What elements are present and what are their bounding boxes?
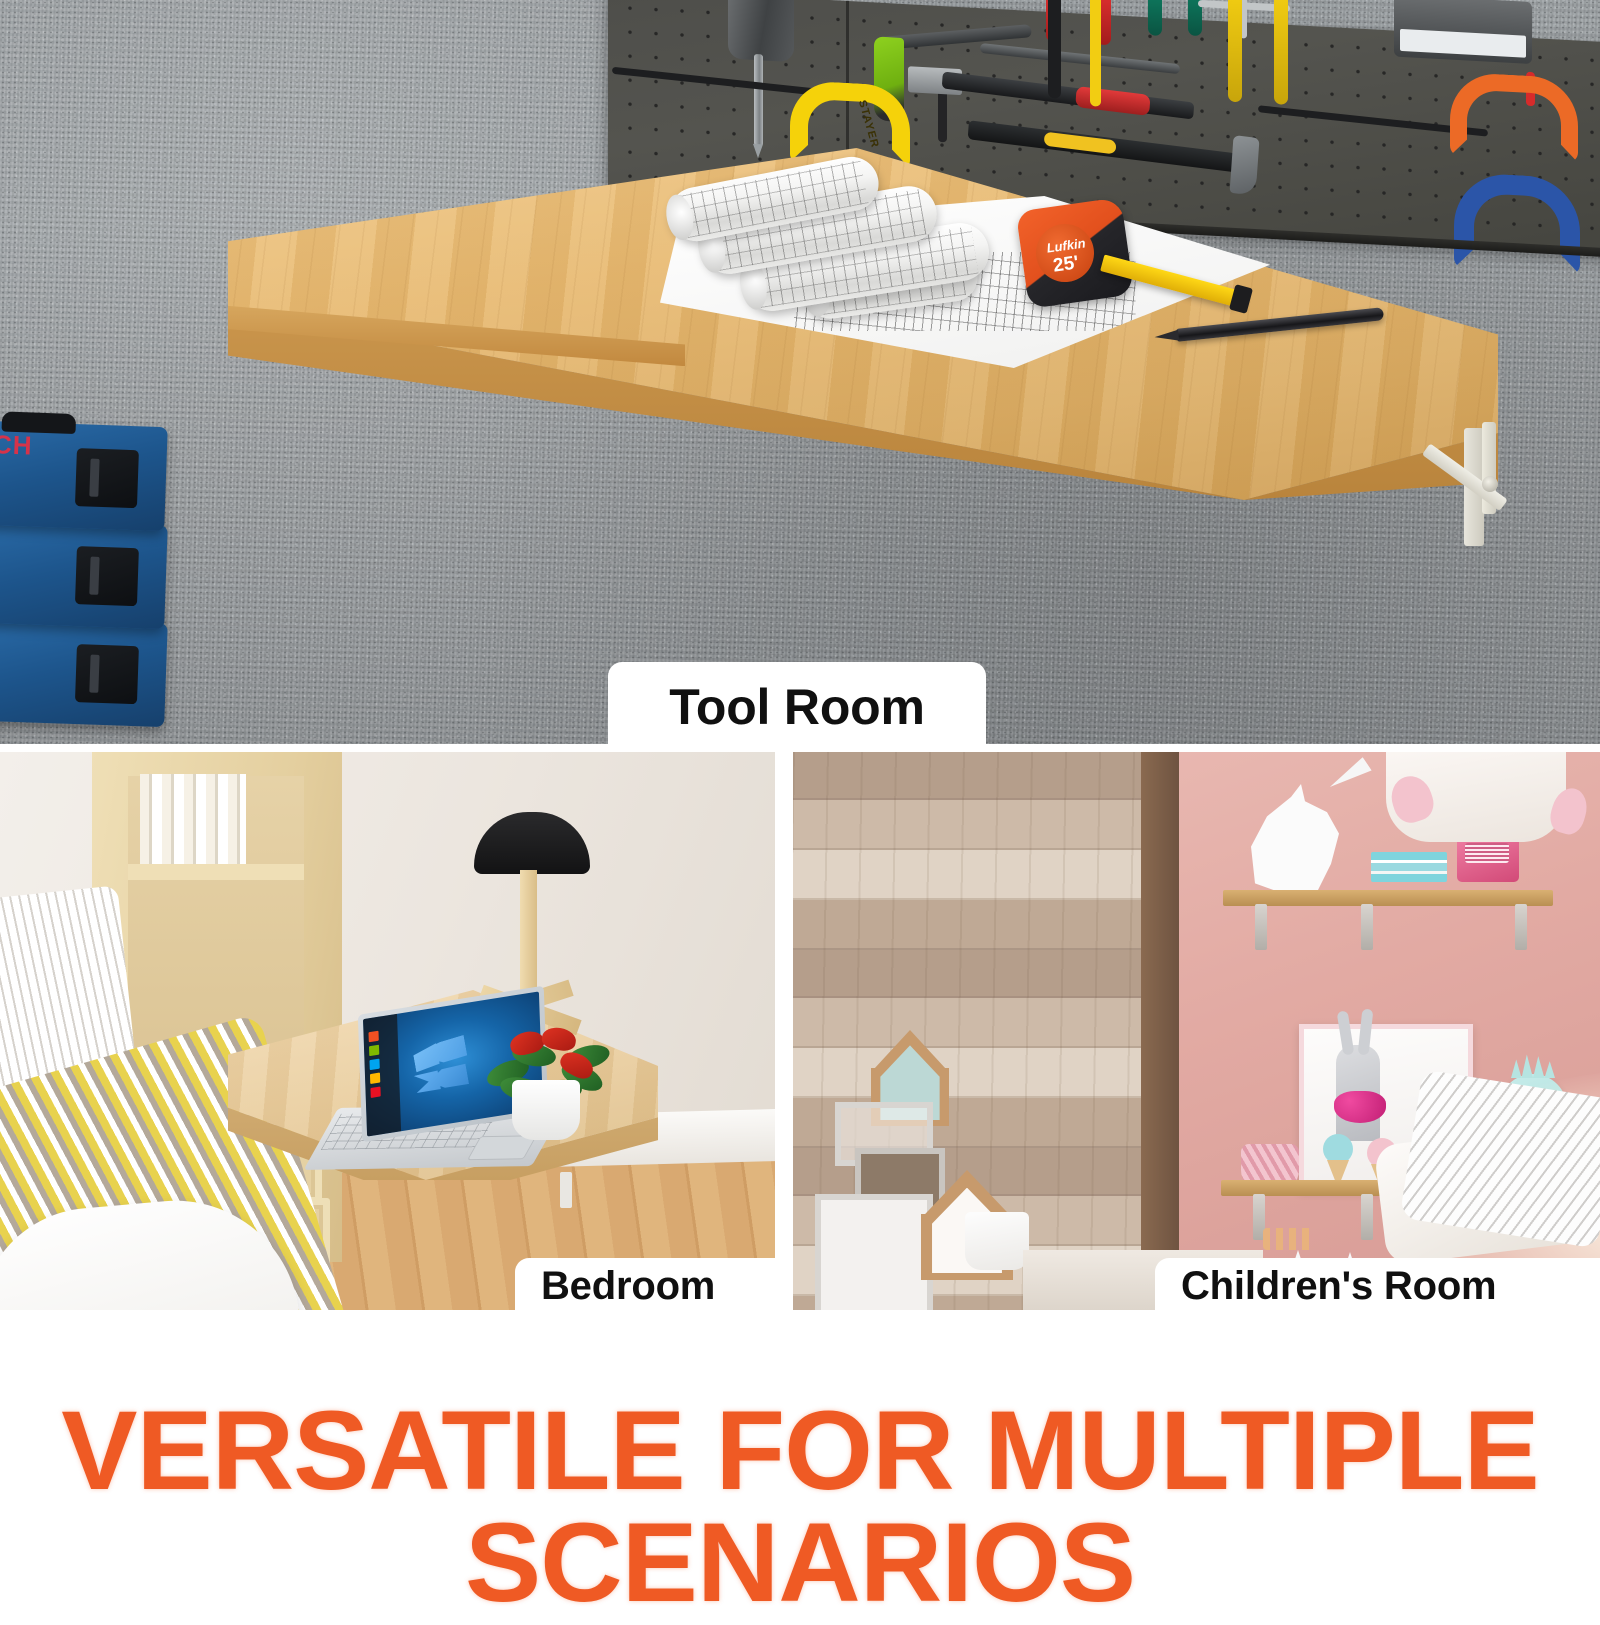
extension-rod	[980, 43, 1180, 74]
yellow-screwdriver-1	[1228, 0, 1242, 102]
tile-icon-4	[370, 1073, 380, 1085]
bosch-logo: CH	[0, 429, 33, 461]
books-on-shelf	[140, 774, 246, 864]
green-screwdriver-1	[1148, 0, 1162, 36]
tile-icon-2	[369, 1045, 379, 1057]
shelf-bracket	[1515, 904, 1527, 950]
caption-tool-room: Tool Room	[608, 662, 986, 752]
bracket-pivot	[1482, 476, 1498, 492]
face-mug	[965, 1212, 1029, 1270]
case-latch	[75, 644, 139, 704]
desk-wall-hook	[560, 1172, 572, 1208]
mug-face	[977, 1234, 1017, 1252]
tool-case-stack: CH	[0, 424, 178, 744]
tape-measure: Lufkin 25'	[1022, 204, 1128, 302]
folding-bracket	[1432, 424, 1508, 546]
berry-cluster	[1334, 1091, 1386, 1123]
panel-children-room	[793, 752, 1600, 1310]
headline: VERSATILE FOR MULTIPLE SCENARIOS	[0, 1395, 1600, 1619]
drill-bit	[754, 54, 763, 146]
hammer-red	[942, 71, 1195, 119]
tool-case-middle	[0, 519, 168, 629]
panel-tool-room: STAYER	[0, 0, 1600, 744]
tile-icon-1	[368, 1031, 378, 1043]
laptop-taskbar	[363, 1014, 401, 1137]
shelf-bracket	[1361, 1194, 1373, 1240]
tile-icon-3	[369, 1059, 379, 1071]
radio-speaker	[1465, 843, 1509, 863]
cabinet-shelf	[128, 864, 304, 880]
yellow-screwdriver-2	[1274, 0, 1288, 105]
book-stack	[1371, 852, 1447, 882]
yellow-file	[1090, 0, 1101, 107]
shelf-bracket	[1361, 904, 1373, 950]
case-latch	[75, 546, 139, 606]
wall-shelf-upper	[1223, 890, 1553, 906]
tool-case-top: CH	[0, 421, 168, 531]
hacksaw	[1394, 0, 1532, 64]
plant-pot	[512, 1080, 580, 1140]
power-drill	[728, 0, 794, 62]
shelf-bracket	[1255, 904, 1267, 950]
caption-bedroom: Bedroom	[515, 1258, 777, 1314]
wall-corner	[1141, 752, 1181, 1310]
caption-children-room: Children's Room	[1155, 1258, 1600, 1314]
case-latch	[75, 448, 139, 508]
ice-cream-scoop	[1323, 1134, 1353, 1164]
black-chisel	[1048, 0, 1061, 99]
marketing-image: STAYER	[0, 0, 1600, 1600]
tool-case-bottom	[0, 617, 168, 727]
toy-box-3	[815, 1194, 933, 1310]
hacksaw-blade	[1400, 29, 1526, 58]
wall-hooks	[1263, 1228, 1313, 1250]
bed-blanket	[1399, 1069, 1600, 1248]
tile-icon-5	[370, 1086, 380, 1098]
panel-bedroom	[0, 752, 775, 1310]
hammer-grip-red	[1075, 86, 1150, 116]
